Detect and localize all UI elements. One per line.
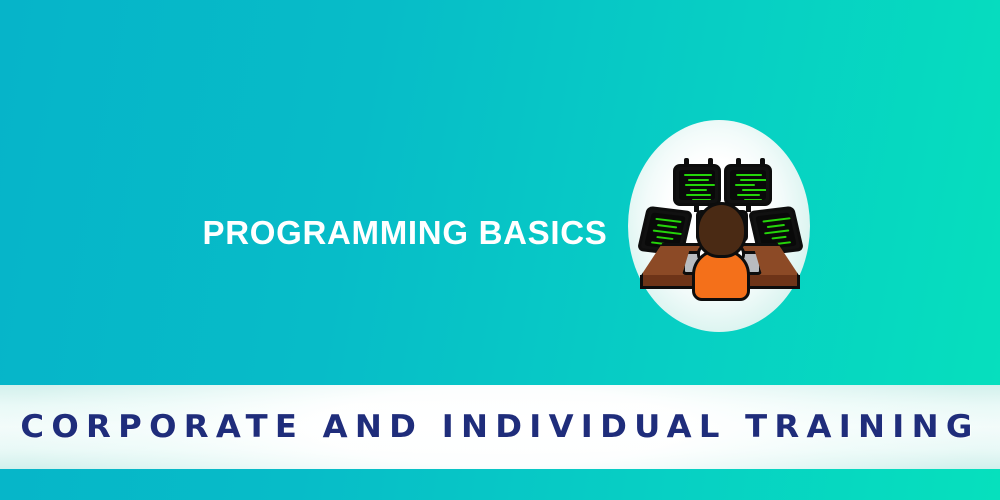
promo-banner-canvas: PROGRAMMING BASICS (0, 0, 1000, 500)
screen-top-right (730, 170, 766, 200)
bottom-banner: CORPORATE AND INDIVIDUAL TRAINING (0, 385, 1000, 469)
programmer-illustration (620, 112, 818, 340)
monitor-top-right-icon (724, 164, 772, 206)
monitor-neck-left-icon (694, 204, 699, 212)
monitor-top-left-icon (673, 164, 721, 206)
monitor-neck-right-icon (746, 204, 751, 212)
banner-tagline: CORPORATE AND INDIVIDUAL TRAINING (0, 385, 1000, 469)
person-head (696, 202, 747, 258)
screen-top-left (679, 170, 715, 200)
